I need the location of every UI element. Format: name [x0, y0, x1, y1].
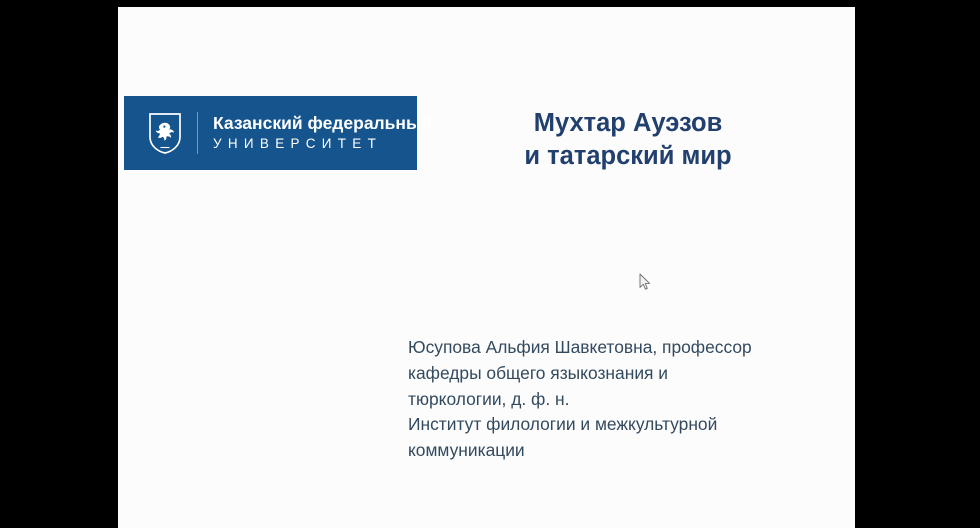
logo-divider — [197, 112, 198, 154]
slide-title: Мухтар Ауэзов и татарский мир — [418, 107, 838, 173]
author-affiliation-block: Юсупова Альфия Шавкетовна, профессор каф… — [408, 335, 808, 464]
presentation-slide: Казанский федеральный УНИВЕРСИТЕТ Мухтар… — [118, 7, 855, 528]
author-line-4: Институт филологии и межкультурной — [408, 412, 808, 438]
screen-viewport: Казанский федеральный УНИВЕРСИТЕТ Мухтар… — [0, 0, 980, 528]
author-line-1: Юсупова Альфия Шавкетовна, профессор — [408, 335, 808, 361]
shield-winged-creature-icon — [148, 112, 182, 154]
author-line-3: тюркологии, д. ф. н. — [408, 387, 808, 413]
logo-primary-text: Казанский федеральный — [213, 113, 432, 134]
slide-title-line-1: Мухтар Ауэзов — [418, 107, 838, 140]
slide-title-line-2: и татарский мир — [418, 140, 838, 173]
author-line-2: кафедры общего языкознания и — [408, 361, 808, 387]
university-logo-banner: Казанский федеральный УНИВЕРСИТЕТ — [124, 96, 417, 170]
logo-wordmark: Казанский федеральный УНИВЕРСИТЕТ — [213, 113, 432, 154]
author-line-5: коммуникации — [408, 438, 808, 464]
logo-secondary-text: УНИВЕРСИТЕТ — [213, 134, 432, 154]
